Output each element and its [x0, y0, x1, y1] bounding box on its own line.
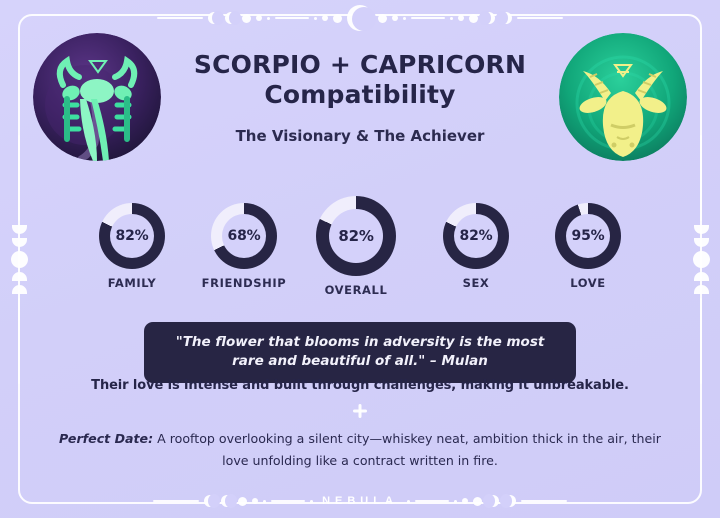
moon-dot-icon [392, 15, 398, 21]
gauge-center: 82% [110, 214, 154, 258]
full-moon-icon [333, 14, 342, 23]
gauge-ring: 68% [211, 203, 277, 269]
moon-dot-icon [267, 17, 270, 20]
moon-dot-icon [252, 498, 258, 504]
crescent-moon-icon [204, 495, 216, 507]
quote-box: "The flower that blooms in adversity is … [144, 322, 576, 383]
full-moon-icon [693, 251, 710, 268]
full-moon-icon [238, 497, 247, 506]
top-ornament [150, 5, 570, 31]
moon-dot-icon [322, 15, 328, 21]
moon-dot-icon [310, 500, 313, 503]
gauge-label: SEX [424, 276, 528, 290]
ornament-bar [18, 298, 20, 384]
right-ornament [688, 109, 714, 409]
ornament-bar [700, 298, 702, 384]
ornament-bar [700, 135, 702, 221]
ornament-bar [153, 500, 199, 502]
gauge-overall: 82%OVERALL [304, 196, 408, 297]
crescent-moon-icon [500, 12, 512, 24]
gauge-center: 95% [566, 214, 610, 258]
gauge-sex: 82%SEX [424, 203, 528, 290]
ornament-bar [411, 17, 445, 19]
title-line-2: Compatibility [175, 80, 545, 110]
gauge-value: 82% [460, 228, 493, 244]
gauge-value: 82% [116, 228, 149, 244]
full-moon-icon [469, 14, 478, 23]
ornament-bar [271, 500, 305, 502]
gauge-love: 95%LOVE [536, 203, 640, 290]
summary-line: Their love is intense and built through … [50, 378, 670, 393]
perfect-date-label: Perfect Date: [59, 431, 153, 446]
compatibility-infographic: NEBULA [0, 0, 720, 518]
gauge-label: FRIENDSHIP [192, 276, 296, 290]
ornament-bar [521, 500, 567, 502]
gauge-center: 82% [329, 209, 383, 263]
moon-dot-icon [256, 15, 262, 21]
ornament-bar [517, 17, 563, 19]
full-moon-icon [242, 14, 251, 23]
brand-wordmark: NEBULA [318, 495, 402, 507]
moon-dot-icon [458, 15, 464, 21]
crescent-moon-icon [12, 272, 27, 281]
gauge-friendship: 68%FRIENDSHIP [192, 203, 296, 290]
left-ornament [6, 109, 32, 409]
gauge-ring: 95% [555, 203, 621, 269]
perfect-date-block: Perfect Date: A rooftop overlooking a si… [50, 428, 670, 471]
gauge-ring: 82% [99, 203, 165, 269]
crescent-moon-icon [12, 285, 27, 294]
full-moon-icon [378, 14, 387, 23]
gauge-label: OVERALL [304, 283, 408, 297]
full-moon-icon [473, 497, 482, 506]
page-title: SCORPIO + CAPRICORN Compatibility [175, 50, 545, 109]
crescent-moon-icon [694, 272, 709, 281]
crescent-moon-icon [225, 12, 237, 24]
header: SCORPIO + CAPRICORN Compatibility The Vi… [175, 50, 545, 145]
gauge-value: 95% [572, 228, 605, 244]
moon-dot-icon [314, 17, 317, 20]
gauge-value: 68% [228, 228, 261, 244]
gauge-ring: 82% [316, 196, 396, 276]
compatibility-gauges: 82%FAMILY68%FRIENDSHIP82%OVERALL82%SEX95… [80, 196, 640, 301]
crescent-moon-icon [694, 285, 709, 294]
crescent-moon-icon [694, 238, 709, 247]
large-crescent-moon-icon [347, 5, 373, 31]
crescent-moon-icon [12, 238, 27, 247]
full-moon-icon [11, 251, 28, 268]
sparkle-icon [353, 404, 367, 418]
gauge-ring: 82% [443, 203, 509, 269]
gauge-label: FAMILY [80, 276, 184, 290]
gauge-value: 82% [338, 227, 373, 245]
ornament-bar [157, 17, 203, 19]
crescent-moon-icon [504, 495, 516, 507]
crescent-moon-icon [208, 12, 220, 24]
moon-dot-icon [450, 17, 453, 20]
ornament-bar [275, 17, 309, 19]
gauge-center: 68% [222, 214, 266, 258]
gauge-family: 82%FAMILY [80, 203, 184, 290]
moon-dot-icon [462, 498, 468, 504]
crescent-moon-icon [221, 495, 233, 507]
scorpio-emblem [33, 33, 161, 161]
gauge-center: 82% [454, 214, 498, 258]
subtitle: The Visionary & The Achiever [175, 127, 545, 145]
moon-dot-icon [407, 500, 410, 503]
moon-dot-icon [263, 500, 266, 503]
perfect-date-text: A rooftop overlooking a silent city—whis… [153, 431, 661, 468]
body-text: Their love is intense and built through … [50, 378, 670, 471]
title-line-1: SCORPIO + CAPRICORN [175, 50, 545, 80]
moon-dot-icon [454, 500, 457, 503]
gauge-label: LOVE [536, 276, 640, 290]
moon-dot-icon [403, 17, 406, 20]
capricorn-emblem [559, 33, 687, 161]
bottom-ornament: NEBULA [150, 488, 570, 514]
ornament-bar [18, 135, 20, 221]
ornament-bar [415, 500, 449, 502]
crescent-moon-icon [483, 12, 495, 24]
crescent-moon-icon [12, 225, 27, 234]
crescent-moon-icon [694, 225, 709, 234]
crescent-moon-icon [487, 495, 499, 507]
